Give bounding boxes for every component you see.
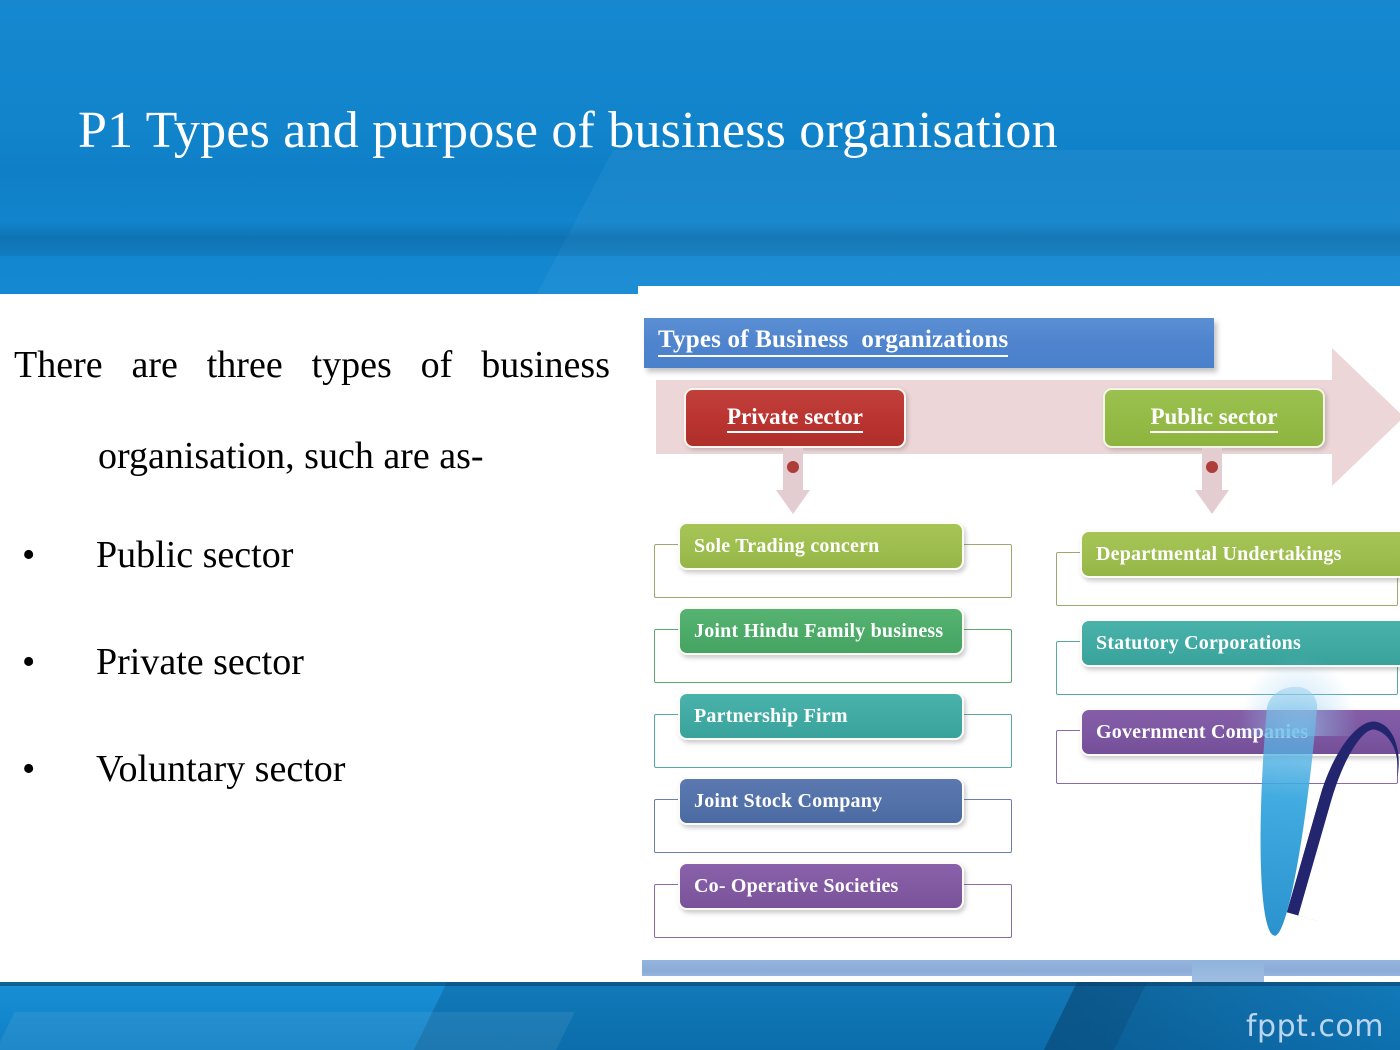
diagram-row: Departmental Undertakings (1048, 530, 1400, 619)
item-chip: Joint Stock Company (678, 777, 964, 825)
sector-box-public: Public sector (1103, 388, 1325, 448)
header-shadow-stripe (0, 222, 1400, 256)
list-item-label: Voluntary sector (96, 748, 345, 790)
diagram-row: Co- Operative Societies (646, 862, 1014, 947)
item-label: Statutory Corporations (1096, 632, 1301, 655)
panel-bottom-bar (642, 960, 1400, 976)
item-label: Joint Stock Company (694, 790, 882, 813)
header-notch (638, 286, 1400, 294)
bullet-dot-icon: • (22, 502, 35, 609)
arrow-dot (1206, 461, 1218, 473)
item-chip: Sole Trading concern (678, 522, 964, 570)
item-chip: Departmental Undertakings (1080, 530, 1400, 578)
diagram-row: Joint Stock Company (646, 777, 1014, 862)
item-chip: Joint Hindu Family business (678, 607, 964, 655)
item-label: Joint Hindu Family business (694, 620, 943, 643)
bullet-dot-icon: • (22, 716, 35, 823)
diagram-title-label: Types of Business organizations (658, 326, 1008, 357)
list-item-label: Public sector (96, 534, 293, 576)
item-chip: Partnership Firm (678, 692, 964, 740)
watermark-label: fppt.com (1246, 1009, 1384, 1044)
list-item: • Public sector (0, 502, 628, 609)
sector-box-public-label: Public sector (1150, 404, 1277, 433)
slide-footer-band: fppt.com (0, 982, 1400, 1050)
list-item-label: Private sector (96, 641, 304, 683)
item-label: Sole Trading concern (694, 535, 879, 558)
private-sector-item-column: Sole Trading concern Joint Hindu Family … (646, 522, 1014, 947)
list-item: • Voluntary sector (0, 716, 628, 823)
intro-paragraph: There are three types of business organi… (14, 320, 610, 502)
sector-arrow-head-icon (1332, 348, 1400, 486)
bullet-list: • Public sector • Private sector • Volun… (0, 502, 628, 823)
item-label: Co- Operative Societies (694, 875, 899, 898)
sector-box-private-label: Private sector (727, 404, 863, 433)
sector-box-private: Private sector (684, 388, 906, 448)
footer-diagonal-3 (0, 1012, 575, 1050)
presentation-slide: P1 Types and purpose of business organis… (0, 0, 1400, 1050)
arrow-tip (1195, 490, 1229, 514)
diagram-image-panel: Types of Business organizations Private … (638, 296, 1400, 976)
item-label: Partnership Firm (694, 705, 848, 728)
diagram-row: Sole Trading concern (646, 522, 1014, 607)
text-column: There are three types of business organi… (0, 320, 628, 823)
item-label: Departmental Undertakings (1096, 543, 1342, 566)
diagram-row: Partnership Firm (646, 692, 1014, 777)
page-title: P1 Types and purpose of business organis… (78, 98, 1308, 164)
bullet-dot-icon: • (22, 609, 35, 716)
list-item: • Private sector (0, 609, 628, 716)
arrow-tip (776, 490, 810, 514)
diagram-title-bar: Types of Business organizations (644, 318, 1214, 368)
arrow-dot (787, 461, 799, 473)
diagram-row: Joint Hindu Family business (646, 607, 1014, 692)
item-chip: Co- Operative Societies (678, 862, 964, 910)
